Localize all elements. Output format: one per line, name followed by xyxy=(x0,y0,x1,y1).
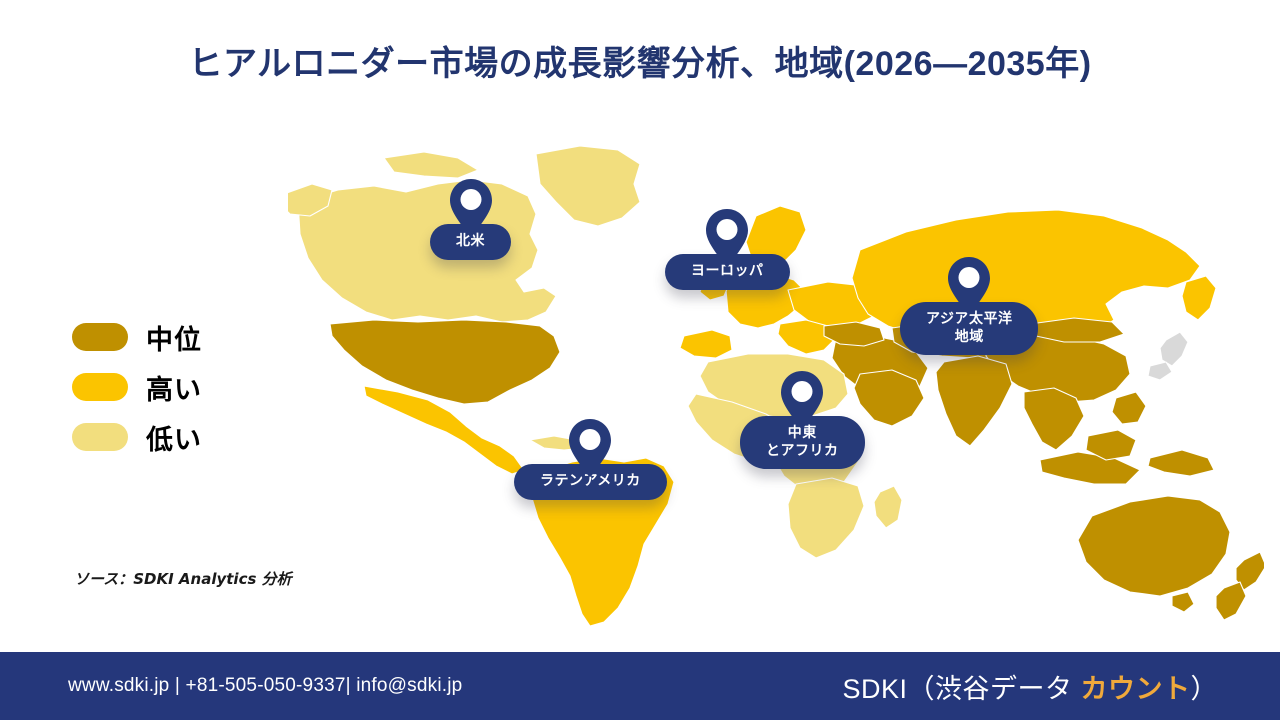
region-tasmania xyxy=(1172,592,1194,612)
legend-label-low: 低い xyxy=(146,418,202,457)
location-pin-icon xyxy=(779,370,825,430)
legend-item-high: 高い xyxy=(72,362,302,412)
footer-brand-suffix: ） xyxy=(1191,674,1219,704)
region-southern-africa xyxy=(788,478,864,558)
region-southeast-asia xyxy=(1024,388,1084,450)
map-marker-latin-america[interactable]: ラテンアメリカ xyxy=(514,418,667,500)
legend-item-medium: 中位 xyxy=(72,312,302,362)
region-arabia xyxy=(854,370,924,426)
map-marker-middle-east-africa[interactable]: 中東 とアフリカ xyxy=(740,370,865,469)
legend-swatch-medium xyxy=(72,323,128,351)
region-new-zealand-south xyxy=(1216,582,1246,620)
region-madagascar xyxy=(874,486,902,528)
map-marker-asia-pacific[interactable]: アジア太平洋 地域 xyxy=(900,256,1038,355)
region-philippines xyxy=(1112,392,1146,424)
region-greenland xyxy=(536,146,640,226)
region-japan xyxy=(1160,332,1188,366)
region-kamchatka xyxy=(1182,276,1216,320)
legend-label-high: 高い xyxy=(146,368,202,407)
location-pin-icon xyxy=(448,178,494,238)
region-india xyxy=(936,356,1012,446)
region-canada-arctic xyxy=(384,152,478,178)
location-pin-icon xyxy=(704,208,750,268)
region-canada xyxy=(298,180,556,322)
footer-brand-accent: カウント xyxy=(1081,674,1191,704)
world-map-container: 北米 ヨーロッパ アジア太平洋 地域 中東 とアフリカ ラテンアメリカ xyxy=(288,140,1264,632)
location-pin-icon xyxy=(567,418,613,478)
source-note: ソース：SDKI Analytics 分析 xyxy=(74,568,292,589)
location-pin-icon xyxy=(946,256,992,316)
legend-item-low: 低い xyxy=(72,412,302,462)
map-marker-north-america[interactable]: 北米 xyxy=(430,178,511,260)
legend: 中位 高い 低い xyxy=(72,312,302,462)
legend-swatch-low xyxy=(72,423,128,451)
footer-brand-prefix: SDKI（渋谷データ xyxy=(842,674,1080,704)
region-australia xyxy=(1078,496,1230,596)
region-new-guinea xyxy=(1148,450,1214,476)
footer-bar: www.sdki.jp | +81-505-050-9337| info@sdk… xyxy=(0,652,1280,720)
legend-swatch-high xyxy=(72,373,128,401)
page-title: ヒアルロニダー市場の成長影響分析、地域(2026—2035年) xyxy=(0,36,1280,85)
region-iberia xyxy=(680,330,732,358)
footer-contact-info[interactable]: www.sdki.jp | +81-505-050-9337| info@sdk… xyxy=(68,675,462,697)
region-united-states xyxy=(330,320,560,404)
legend-label-medium: 中位 xyxy=(146,318,202,357)
footer-brand: SDKI（渋谷データ カウント） xyxy=(842,667,1218,706)
map-marker-europe[interactable]: ヨーロッパ xyxy=(665,208,790,290)
region-turkey-caucasus xyxy=(824,322,884,346)
region-japan-south xyxy=(1148,362,1172,380)
